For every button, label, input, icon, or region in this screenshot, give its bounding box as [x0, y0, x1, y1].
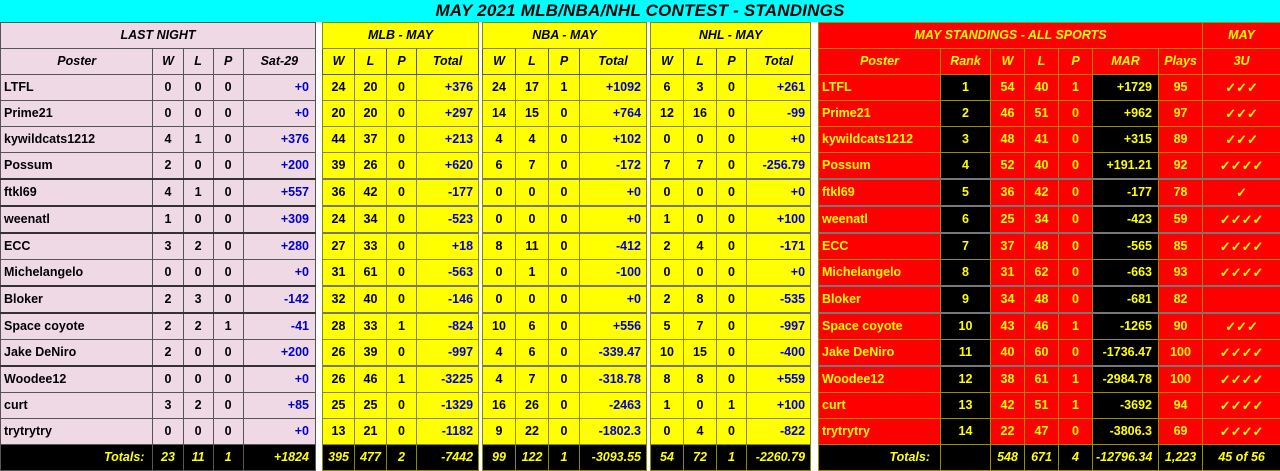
nba-total: +0 [580, 179, 647, 206]
nba-p: 0 [549, 127, 580, 153]
mlb-p: 1 [387, 366, 417, 393]
mlb-w: 28 [323, 313, 355, 340]
column-header-total[interactable]: Total [580, 49, 647, 75]
last-night-l: 1 [183, 179, 213, 206]
column-header-l[interactable]: L [183, 49, 213, 75]
nba-l: 11 [516, 233, 549, 260]
last-night-total: -142 [243, 286, 315, 313]
poster-name: Prime21 [1, 101, 153, 127]
last-night-l: 3 [183, 286, 213, 313]
standings-p: 0 [1059, 340, 1093, 367]
totals-row: Totals:5486714-12796.341,22345 of 56 [819, 445, 1280, 471]
nhl-w: 0 [651, 127, 684, 153]
last-night-p: 0 [213, 153, 243, 180]
totals-row: 991221-3093.55 [483, 445, 647, 471]
mlb-p: 0 [387, 286, 417, 313]
nhl-w: 0 [651, 419, 684, 445]
mlb-total: -824 [417, 313, 479, 340]
standings-mar: -681 [1093, 286, 1159, 313]
mlb-p: 0 [387, 393, 417, 419]
table-row: 28331-824 [323, 313, 479, 340]
mlb-p: 0 [387, 340, 417, 367]
nba-total: -100 [580, 260, 647, 287]
last-night-total: +0 [243, 260, 315, 287]
poster-name: ECC [819, 233, 941, 260]
table-row: Woodee12000+0 [1, 366, 316, 393]
mlb-l: 25 [355, 393, 387, 419]
poster-name: Space coyote [819, 313, 941, 340]
standings-mar: +962 [1093, 101, 1159, 127]
mlb-l: 61 [355, 260, 387, 287]
table-row: Space coyote221-41 [1, 313, 316, 340]
standings-p: 0 [1059, 206, 1093, 233]
column-header-w[interactable]: W [153, 49, 183, 75]
nba-p: 0 [549, 101, 580, 127]
mlb-total: +297 [417, 101, 479, 127]
totals-value: 1,223 [1159, 445, 1203, 471]
standings-plays: 78 [1159, 179, 1203, 206]
table-row: ECC320+280 [1, 233, 316, 260]
nhl-l: 8 [684, 286, 717, 313]
standings-plays: 100 [1159, 366, 1203, 393]
nba-p: 0 [549, 366, 580, 393]
mlb-p: 0 [387, 260, 417, 287]
nhl-w: 5 [651, 313, 684, 340]
column-header-sat-29[interactable]: Sat-29 [243, 49, 315, 75]
table-row: 010-100 [483, 260, 647, 287]
standings-rank: 1 [941, 75, 991, 101]
mlb-l: 37 [355, 127, 387, 153]
nba-l: 6 [516, 313, 549, 340]
standings-header-row: PosterRankWLPMARPlays3U [819, 49, 1280, 75]
column-header-w[interactable]: W [483, 49, 516, 75]
mlb-total: -146 [417, 286, 479, 313]
table-row: 24200+376 [323, 75, 479, 101]
mlb-w: 13 [323, 419, 355, 445]
table-row: Possum452400+191.2192✓✓✓✓ [819, 153, 1280, 180]
nhl-p: 0 [717, 286, 747, 313]
table-row: 101+100 [651, 393, 811, 419]
table-row: 000+0 [651, 179, 811, 206]
poster-name: Jake DeNiro [1, 340, 153, 367]
last-night-l: 0 [183, 101, 213, 127]
standings-mar: +191.21 [1093, 153, 1159, 180]
column-header-p[interactable]: P [1059, 49, 1093, 75]
standings-mar: -2984.78 [1093, 366, 1159, 393]
nba-total: +556 [580, 313, 647, 340]
totals-value: 11 [183, 445, 213, 471]
table-row: 100+100 [651, 206, 811, 233]
nba-w: 10 [483, 313, 516, 340]
nhl-total: -400 [747, 340, 811, 367]
totals-value: 548 [991, 445, 1025, 471]
mlb-w: 25 [323, 393, 355, 419]
standings-l: 51 [1025, 101, 1059, 127]
standings-l: 40 [1025, 153, 1059, 180]
nhl-w: 8 [651, 366, 684, 393]
standings-w: 31 [991, 260, 1025, 287]
mlb-p: 0 [387, 153, 417, 180]
table-row: 26461-3225 [323, 366, 479, 393]
standings-w: 52 [991, 153, 1025, 180]
column-header-l[interactable]: L [355, 49, 387, 75]
totals-value: 99 [483, 445, 516, 471]
column-header-mar[interactable]: MAR [1093, 49, 1159, 75]
nba-p: 0 [549, 206, 580, 233]
nhl-p: 0 [717, 260, 747, 287]
column-header-plays[interactable]: Plays [1159, 49, 1203, 75]
totals-value: -3093.55 [580, 445, 647, 471]
nhl-w: 2 [651, 286, 684, 313]
standings-mar: -565 [1093, 233, 1159, 260]
standings-plays: 90 [1159, 313, 1203, 340]
last-night-caption-row: LAST NIGHT [1, 23, 316, 49]
nhl-total: +0 [747, 260, 811, 287]
last-night-total: +376 [243, 127, 315, 153]
last-night-total: +200 [243, 340, 315, 367]
table-row: Jake DeNiro1140600-1736.47100✓✓✓✓ [819, 340, 1280, 367]
standings-rank: 8 [941, 260, 991, 287]
table-row: 630+261 [651, 75, 811, 101]
mlb-table: MLB - MAY WLPTotal 24200+37620200+297443… [322, 22, 478, 471]
last-night-w: 2 [153, 340, 183, 367]
standings-w: 42 [991, 393, 1025, 419]
table-row: LTFL154401+172995✓✓✓ [819, 75, 1280, 101]
poster-name: trytrytry [1, 419, 153, 445]
standings-rank: 14 [941, 419, 991, 445]
last-night-w: 0 [153, 75, 183, 101]
column-header-poster[interactable]: Poster [819, 49, 941, 75]
totals-label: Totals: [819, 445, 941, 471]
totals-value: 1 [213, 445, 243, 471]
nhl-p: 0 [717, 101, 747, 127]
last-night-w: 2 [153, 286, 183, 313]
nhl-total: +0 [747, 179, 811, 206]
standings-rank: 7 [941, 233, 991, 260]
column-header-p[interactable]: P [387, 49, 417, 75]
poster-name: Michelangelo [1, 260, 153, 287]
nba-l: 0 [516, 206, 549, 233]
mlb-w: 32 [323, 286, 355, 313]
nhl-total: +0 [747, 127, 811, 153]
mlb-w: 31 [323, 260, 355, 287]
standings-chk [1203, 286, 1280, 313]
standings-chk: ✓✓✓ [1203, 127, 1280, 153]
column-header-p[interactable]: P [213, 49, 243, 75]
standings-rank: 10 [941, 313, 991, 340]
standings-caption: MAY STANDINGS - ALL SPORTS [819, 23, 1203, 49]
table-row: 000+0 [651, 127, 811, 153]
column-header-l[interactable]: L [684, 49, 717, 75]
last-night-total: +85 [243, 393, 315, 419]
nba-total: -318.78 [580, 366, 647, 393]
nhl-w: 1 [651, 206, 684, 233]
standings-l: 60 [1025, 340, 1059, 367]
totals-value: 1 [717, 445, 747, 471]
nba-total: +0 [580, 286, 647, 313]
mlb-total: -523 [417, 206, 479, 233]
totals-value: 1 [549, 445, 580, 471]
table-row: Bloker230-142 [1, 286, 316, 313]
standings-l: 51 [1025, 393, 1059, 419]
poster-name: LTFL [1, 75, 153, 101]
nhl-p: 0 [717, 313, 747, 340]
table-row: 000+0 [483, 286, 647, 313]
totals-row: 54721-2260.79 [651, 445, 811, 471]
nba-p: 0 [549, 313, 580, 340]
standings-chk: ✓✓✓✓ [1203, 206, 1280, 233]
mlb-l: 33 [355, 233, 387, 260]
standings-mar: +1729 [1093, 75, 1159, 101]
table-row: 280-535 [651, 286, 811, 313]
standings-rank: 12 [941, 366, 991, 393]
last-night-w: 4 [153, 179, 183, 206]
poster-name: curt [1, 393, 153, 419]
nhl-caption: NHL - MAY [651, 23, 811, 49]
poster-name: ftkl69 [1, 179, 153, 206]
poster-name: ECC [1, 233, 153, 260]
nhl-total: -256.79 [747, 153, 811, 180]
nhl-header-row: WLPTotal [651, 49, 811, 75]
table-row: 000+0 [483, 179, 647, 206]
poster-name: Space coyote [1, 313, 153, 340]
nba-caption-row: NBA - MAY [483, 23, 647, 49]
table-row: kywildcats1212348410+31589✓✓✓ [819, 127, 1280, 153]
nhl-l: 0 [684, 206, 717, 233]
table-row: 240-171 [651, 233, 811, 260]
last-night-l: 0 [183, 419, 213, 445]
totals-value: 23 [153, 445, 183, 471]
poster-name: LTFL [819, 75, 941, 101]
mlb-p: 0 [387, 206, 417, 233]
last-night-p: 1 [213, 313, 243, 340]
mlb-w: 20 [323, 101, 355, 127]
nba-p: 0 [549, 179, 580, 206]
nhl-l: 3 [684, 75, 717, 101]
table-row: weenatl100+309 [1, 206, 316, 233]
standings-chk: ✓✓✓✓ [1203, 260, 1280, 287]
nhl-l: 4 [684, 233, 717, 260]
poster-name: Woodee12 [819, 366, 941, 393]
nba-l: 4 [516, 127, 549, 153]
last-night-caption: LAST NIGHT [1, 23, 316, 49]
standings-caption-row: MAY STANDINGS - ALL SPORTS MAY [819, 23, 1280, 49]
last-night-p: 0 [213, 179, 243, 206]
standings-rank: 9 [941, 286, 991, 313]
nba-l: 6 [516, 340, 549, 367]
last-night-l: 0 [183, 153, 213, 180]
last-night-total: +0 [243, 101, 315, 127]
nba-header-row: WLPTotal [483, 49, 647, 75]
mlb-total: -3225 [417, 366, 479, 393]
standings-table: MAY STANDINGS - ALL SPORTS MAY PosterRan… [818, 22, 1280, 471]
nhl-l: 7 [684, 313, 717, 340]
standings-plays: 100 [1159, 340, 1203, 367]
standings-mar: -3806.3 [1093, 419, 1159, 445]
last-night-p: 0 [213, 260, 243, 287]
last-night-total: +0 [243, 75, 315, 101]
standings-w: 25 [991, 206, 1025, 233]
standings-chk: ✓✓✓✓ [1203, 153, 1280, 180]
mlb-w: 39 [323, 153, 355, 180]
nhl-p: 0 [717, 233, 747, 260]
table-row: kywildcats1212410+376 [1, 127, 316, 153]
standings-p: 0 [1059, 260, 1093, 287]
mlb-w: 24 [323, 75, 355, 101]
nhl-w: 12 [651, 101, 684, 127]
table-row: 000+0 [651, 260, 811, 287]
table-row: Space coyote1043461-126590✓✓✓ [819, 313, 1280, 340]
mlb-total: +213 [417, 127, 479, 153]
table-row: Bloker934480-68182 [819, 286, 1280, 313]
mlb-total: +18 [417, 233, 479, 260]
standings-w: 36 [991, 179, 1025, 206]
mlb-total: -1329 [417, 393, 479, 419]
column-header-w[interactable]: W [323, 49, 355, 75]
standings-chk: ✓✓✓✓ [1203, 393, 1280, 419]
column-header-w[interactable]: W [991, 49, 1025, 75]
last-night-p: 0 [213, 286, 243, 313]
nba-p: 0 [549, 153, 580, 180]
mlb-p: 0 [387, 419, 417, 445]
poster-name: Woodee12 [1, 366, 153, 393]
nba-l: 0 [516, 179, 549, 206]
table-row: 570-997 [651, 313, 811, 340]
standings-w: 48 [991, 127, 1025, 153]
nba-p: 0 [549, 260, 580, 287]
nba-l: 22 [516, 419, 549, 445]
standings-l: 47 [1025, 419, 1059, 445]
standings-chk: ✓✓✓✓ [1203, 419, 1280, 445]
standings-page: MAY 2021 MLB/NBA/NHL CONTEST - STANDINGS… [0, 0, 1280, 451]
table-row: Possum200+200 [1, 153, 316, 180]
standings-chk: ✓✓✓ [1203, 75, 1280, 101]
column-header-rank[interactable]: Rank [941, 49, 991, 75]
mlb-p: 0 [387, 233, 417, 260]
nhl-l: 15 [684, 340, 717, 367]
mlb-l: 20 [355, 101, 387, 127]
last-night-w: 3 [153, 233, 183, 260]
nhl-w: 2 [651, 233, 684, 260]
nba-p: 0 [549, 233, 580, 260]
poster-name: Bloker [819, 286, 941, 313]
nba-l: 17 [516, 75, 549, 101]
nhl-p: 0 [717, 179, 747, 206]
table-row: ftkl69536420-17778✓ [819, 179, 1280, 206]
column-header-p[interactable]: P [717, 49, 747, 75]
nhl-p: 0 [717, 340, 747, 367]
table-row: 470-318.78 [483, 366, 647, 393]
last-night-p: 0 [213, 75, 243, 101]
totals-value: 477 [355, 445, 387, 471]
column-header-p[interactable]: P [549, 49, 580, 75]
column-header-total[interactable]: Total [747, 49, 811, 75]
last-night-p: 0 [213, 206, 243, 233]
nhl-p: 0 [717, 153, 747, 180]
column-header-3u[interactable]: 3U [1203, 49, 1280, 75]
standings-rank: 2 [941, 101, 991, 127]
last-night-total: +0 [243, 366, 315, 393]
standings-w: 38 [991, 366, 1025, 393]
nhl-total: -822 [747, 419, 811, 445]
column-header-w[interactable]: W [651, 49, 684, 75]
standings-p: 0 [1059, 101, 1093, 127]
nba-total: +764 [580, 101, 647, 127]
nhl-p: 0 [717, 366, 747, 393]
nba-p: 0 [549, 340, 580, 367]
totals-value: -2260.79 [747, 445, 811, 471]
nba-table: NBA - MAY WLPTotal 24171+109214150+76444… [482, 22, 646, 471]
table-row: 20200+297 [323, 101, 479, 127]
nhl-l: 0 [684, 260, 717, 287]
poster-name: Prime21 [819, 101, 941, 127]
nba-l: 0 [516, 286, 549, 313]
standings-w: 40 [991, 340, 1025, 367]
last-night-w: 0 [153, 101, 183, 127]
nba-l: 15 [516, 101, 549, 127]
last-night-l: 0 [183, 260, 213, 287]
standings-p: 0 [1059, 179, 1093, 206]
table-row: 880+559 [651, 366, 811, 393]
standings-l: 46 [1025, 313, 1059, 340]
poster-name: ftkl69 [819, 179, 941, 206]
nhl-p: 0 [717, 206, 747, 233]
last-night-w: 0 [153, 419, 183, 445]
standings-l: 48 [1025, 233, 1059, 260]
standings-l: 62 [1025, 260, 1059, 287]
poster-name: kywildcats1212 [819, 127, 941, 153]
nhl-w: 0 [651, 179, 684, 206]
table-row: 10150-400 [651, 340, 811, 367]
table-row: trytrytry000+0 [1, 419, 316, 445]
standings-w: 54 [991, 75, 1025, 101]
mlb-l: 34 [355, 206, 387, 233]
standings-w: 34 [991, 286, 1025, 313]
totals-value: 54 [651, 445, 684, 471]
nhl-l: 0 [684, 393, 717, 419]
nhl-p: 0 [717, 127, 747, 153]
table-row: 27330+18 [323, 233, 479, 260]
poster-name: weenatl [1, 206, 153, 233]
column-header-poster[interactable]: Poster [1, 49, 153, 75]
table-row: Michelangelo000+0 [1, 260, 316, 287]
standings-w: 46 [991, 101, 1025, 127]
last-night-l: 2 [183, 313, 213, 340]
standings-chk: ✓✓✓ [1203, 101, 1280, 127]
standings-chk: ✓✓✓ [1203, 313, 1280, 340]
nhl-p: 0 [717, 75, 747, 101]
totals-value: 122 [516, 445, 549, 471]
mlb-p: 1 [387, 313, 417, 340]
totals-label: Totals: [1, 445, 153, 471]
column-header-l[interactable]: L [1025, 49, 1059, 75]
mlb-p: 0 [387, 101, 417, 127]
table-row: 36420-177 [323, 179, 479, 206]
poster-name: curt [819, 393, 941, 419]
nba-p: 1 [549, 75, 580, 101]
table-row: 000+0 [483, 206, 647, 233]
table-row: 1060+556 [483, 313, 647, 340]
mlb-p: 0 [387, 75, 417, 101]
mlb-p: 0 [387, 127, 417, 153]
last-night-l: 0 [183, 340, 213, 367]
column-header-l[interactable]: L [516, 49, 549, 75]
column-header-total[interactable]: Total [417, 49, 479, 75]
last-night-p: 0 [213, 393, 243, 419]
standings-plays: 97 [1159, 101, 1203, 127]
nhl-p: 0 [717, 419, 747, 445]
standings-plays: 95 [1159, 75, 1203, 101]
